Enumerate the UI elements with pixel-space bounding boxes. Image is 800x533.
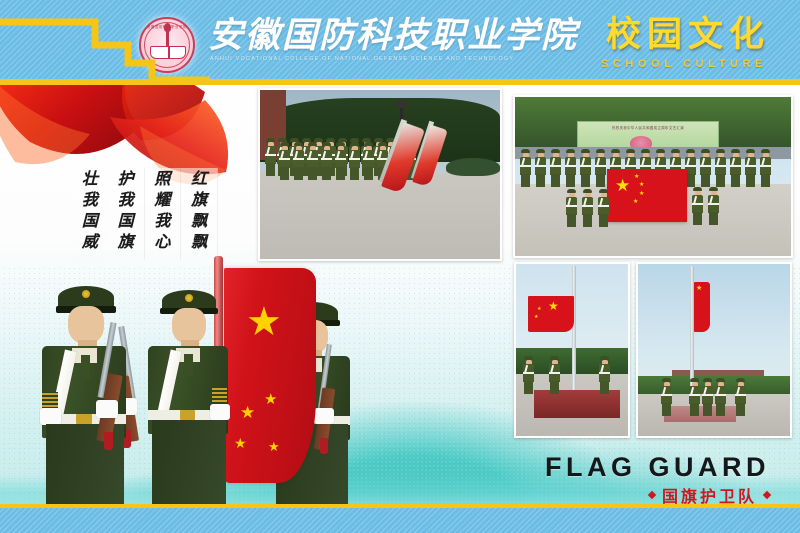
diamond-bullet-icon bbox=[648, 491, 656, 499]
flag-small-star-icon: ★ bbox=[264, 392, 277, 407]
photo-ground bbox=[260, 173, 500, 259]
section-title-en: SCHOOL CULTURE bbox=[601, 58, 767, 70]
flag-big-star-icon: ★ bbox=[615, 177, 630, 194]
flag-big-star-icon: ★ bbox=[246, 302, 282, 342]
calligraphy-block: 红 旗 飘 飘 照 耀 我 心 护 我 国 旗 壮 我 国 威 bbox=[72, 168, 218, 260]
diamond-bullet-icon bbox=[763, 491, 771, 499]
photo-podium bbox=[664, 406, 736, 422]
photo-bush bbox=[446, 158, 500, 176]
foreground-national-flag: ★ ★ ★ ★ ★ bbox=[224, 268, 316, 483]
calligraphy-char: 旗 bbox=[191, 191, 207, 211]
calligraphy-char: 威 bbox=[82, 233, 98, 253]
flag-big-star-icon: ★ bbox=[696, 285, 702, 292]
calligraphy-column-3: 护 我 国 旗 bbox=[108, 168, 145, 260]
poster-canvas: 安徽国防科技职业学院 安徽国防科技职业学院 ANHUI VOCATIONAL C… bbox=[0, 0, 800, 533]
photo-national-flag: ★ ★ ★ bbox=[528, 296, 574, 332]
section-title-cn: 校园文化 bbox=[606, 16, 770, 54]
photo-flag-raising-wide[interactable]: ★ bbox=[636, 262, 792, 438]
calligraphy-char: 我 bbox=[118, 191, 134, 211]
flag-small-star-icon: ★ bbox=[633, 199, 638, 205]
university-name-en: ANHUI VOCATIONAL COLLEGE OF NATIONAL DEF… bbox=[210, 56, 470, 62]
flag-small-star-icon: ★ bbox=[534, 315, 538, 320]
photo-flag-raising-close[interactable]: ★ ★ ★ bbox=[514, 262, 630, 438]
calligraphy-char: 照 bbox=[154, 170, 170, 190]
flag-small-star-icon: ★ bbox=[639, 191, 644, 197]
photo-national-flag: ★ ★ ★ ★ ★ bbox=[607, 169, 687, 222]
flag-small-star-icon: ★ bbox=[234, 436, 247, 450]
photo-national-flag: ★ bbox=[694, 282, 710, 332]
calligraphy-char: 我 bbox=[154, 212, 170, 232]
foreground-honor-guard: ★ ★ ★ ★ ★ bbox=[28, 268, 348, 508]
footer-stripe-texture bbox=[0, 508, 800, 533]
university-logo: 安徽国防科技职业学院 bbox=[139, 17, 195, 73]
photo-marching-formation[interactable] bbox=[258, 88, 502, 261]
calligraphy-char: 护 bbox=[118, 170, 134, 190]
calligraphy-char: 红 bbox=[191, 170, 207, 190]
flag-small-star-icon: ★ bbox=[268, 440, 280, 453]
calligraphy-column-1: 红 旗 飘 飘 bbox=[181, 168, 218, 260]
calligraphy-char: 我 bbox=[82, 191, 98, 211]
flag-small-star-icon: ★ bbox=[240, 404, 255, 421]
calligraphy-char: 耀 bbox=[154, 191, 170, 211]
flag-small-star-icon: ★ bbox=[537, 307, 541, 312]
calligraphy-char: 国 bbox=[82, 212, 98, 232]
photo-lamp-head bbox=[396, 100, 407, 108]
flag-small-star-icon: ★ bbox=[634, 174, 639, 180]
photo-flagpole bbox=[572, 266, 576, 406]
flag-small-star-icon: ★ bbox=[639, 182, 644, 188]
photo-podium bbox=[534, 390, 620, 418]
calligraphy-column-2: 照 耀 我 心 bbox=[145, 168, 182, 260]
header-yellow-divider bbox=[0, 79, 800, 85]
calligraphy-char: 心 bbox=[154, 233, 170, 253]
calligraphy-char: 飘 bbox=[191, 233, 207, 253]
flag-big-star-icon: ★ bbox=[548, 300, 559, 312]
footer-blue-band bbox=[0, 508, 800, 533]
poster-header: 安徽国防科技职业学院 安徽国防科技职业学院 ANHUI VOCATIONAL C… bbox=[0, 0, 800, 79]
wordmark-english: FLAG GUARD bbox=[545, 452, 770, 483]
calligraphy-column-4: 壮 我 国 威 bbox=[72, 168, 108, 260]
logo-book-icon bbox=[150, 46, 186, 59]
calligraphy-char: 飘 bbox=[191, 212, 207, 232]
photo-banner-text: 热烈庆祝中华人民共和国成立周年文艺汇演 bbox=[578, 125, 718, 130]
university-name-cn: 安徽国防科技职业学院 bbox=[208, 16, 578, 56]
photo-group-portrait[interactable]: 热烈庆祝中华人民共和国成立周年文艺汇演 ★ ★ bbox=[513, 95, 793, 258]
calligraphy-char: 壮 bbox=[82, 170, 98, 190]
calligraphy-char: 旗 bbox=[118, 233, 134, 253]
calligraphy-char: 国 bbox=[118, 212, 134, 232]
